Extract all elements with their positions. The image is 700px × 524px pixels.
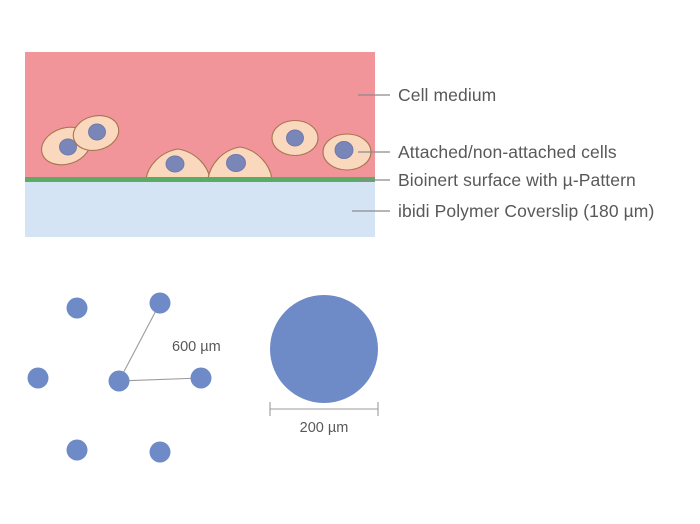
cross-section-panel bbox=[25, 52, 375, 237]
pattern-spacing-label: 600 µm bbox=[172, 339, 221, 355]
pattern-dot-center bbox=[109, 371, 130, 392]
dimension-200um-label: 200 µm bbox=[300, 420, 349, 436]
legend-cell-medium: Cell medium bbox=[358, 85, 496, 105]
pattern-dot-mid-right bbox=[191, 368, 212, 389]
legend-attached-cells-label: Attached/non-attached cells bbox=[398, 142, 617, 162]
pattern-dot-top-right bbox=[150, 293, 171, 314]
pattern-dot-mid-left bbox=[28, 368, 49, 389]
pattern-dot-bottom-right bbox=[150, 442, 171, 463]
dimension-200um: 200 µm bbox=[270, 402, 378, 436]
bioinert-surface-layer bbox=[25, 177, 375, 182]
legend-polymer-coverslip-label: ibidi Polymer Coverslip (180 µm) bbox=[398, 201, 654, 221]
non-attached-cell-3 bbox=[272, 121, 318, 156]
polymer-coverslip-layer bbox=[25, 182, 375, 237]
spacing-line-horizontal bbox=[119, 378, 201, 381]
legend-bioinert-surface-label: Bioinert surface with µ-Pattern bbox=[398, 170, 636, 190]
nucleus bbox=[287, 130, 304, 146]
spacing-line-diagonal bbox=[119, 303, 160, 381]
nucleus bbox=[166, 156, 184, 172]
nucleus bbox=[227, 155, 246, 172]
legend-attached-cells: Attached/non-attached cells bbox=[358, 142, 617, 162]
nucleus bbox=[60, 139, 77, 155]
legend-cell-medium-label: Cell medium bbox=[398, 85, 496, 105]
pattern-grid-panel: 600 µm bbox=[28, 293, 221, 463]
micropattern-diagram: Cell medium Attached/non-attached cells … bbox=[0, 0, 700, 524]
figure-root: Cell medium Attached/non-attached cells … bbox=[0, 0, 700, 524]
pattern-dot-top-left bbox=[67, 298, 88, 319]
pattern-dot-bottom-left bbox=[67, 440, 88, 461]
nucleus bbox=[89, 124, 106, 140]
legend-bioinert-surface: Bioinert surface with µ-Pattern bbox=[358, 170, 636, 190]
legend: Cell medium Attached/non-attached cells … bbox=[352, 85, 654, 221]
nucleus bbox=[335, 142, 353, 159]
legend-polymer-coverslip: ibidi Polymer Coverslip (180 µm) bbox=[352, 201, 654, 221]
dot-detail-panel: 200 µm bbox=[270, 295, 378, 436]
pattern-dot-detail bbox=[270, 295, 378, 403]
